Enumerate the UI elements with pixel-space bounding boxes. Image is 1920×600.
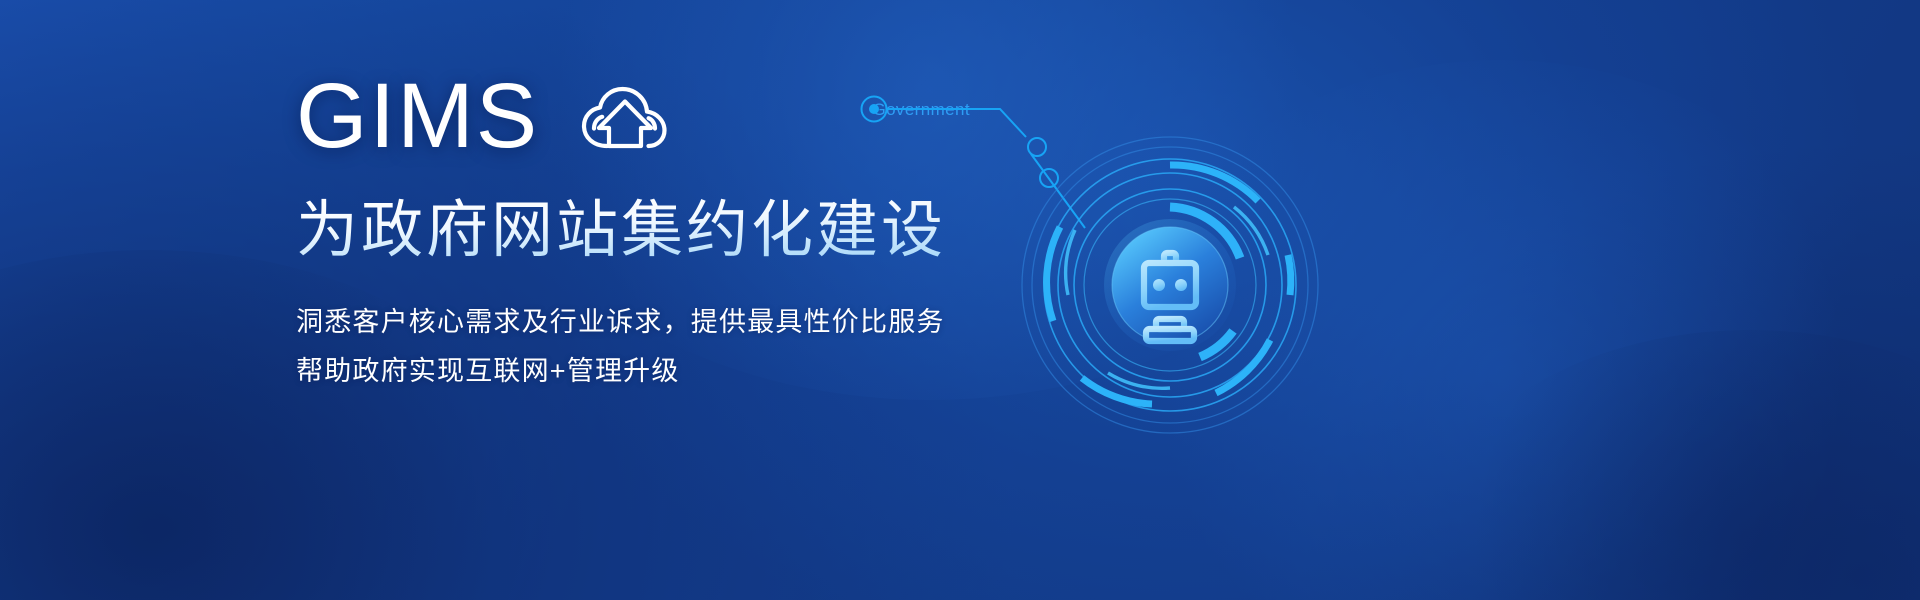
- hero-banner: GIMS 为政府网站集约化建设 洞悉客户核心需求及行业诉求，提供最具性价比服务 …: [0, 0, 1920, 600]
- hero-headline: 为政府网站集约化建设: [296, 196, 1016, 265]
- hero-graphic: Government: [990, 60, 1550, 490]
- cloud-upload-icon: [577, 80, 673, 152]
- hero-subcopy: 洞悉客户核心需求及行业诉求，提供最具性价比服务 帮助政府实现互联网+管理升级: [296, 309, 1016, 385]
- tech-rings-icon: [1020, 135, 1320, 435]
- subcopy-line-1: 洞悉客户核心需求及行业诉求，提供最具性价比服务: [296, 309, 1016, 336]
- page-title: GIMS: [296, 70, 539, 162]
- subcopy-line-2: 帮助政府实现互联网+管理升级: [296, 358, 1016, 385]
